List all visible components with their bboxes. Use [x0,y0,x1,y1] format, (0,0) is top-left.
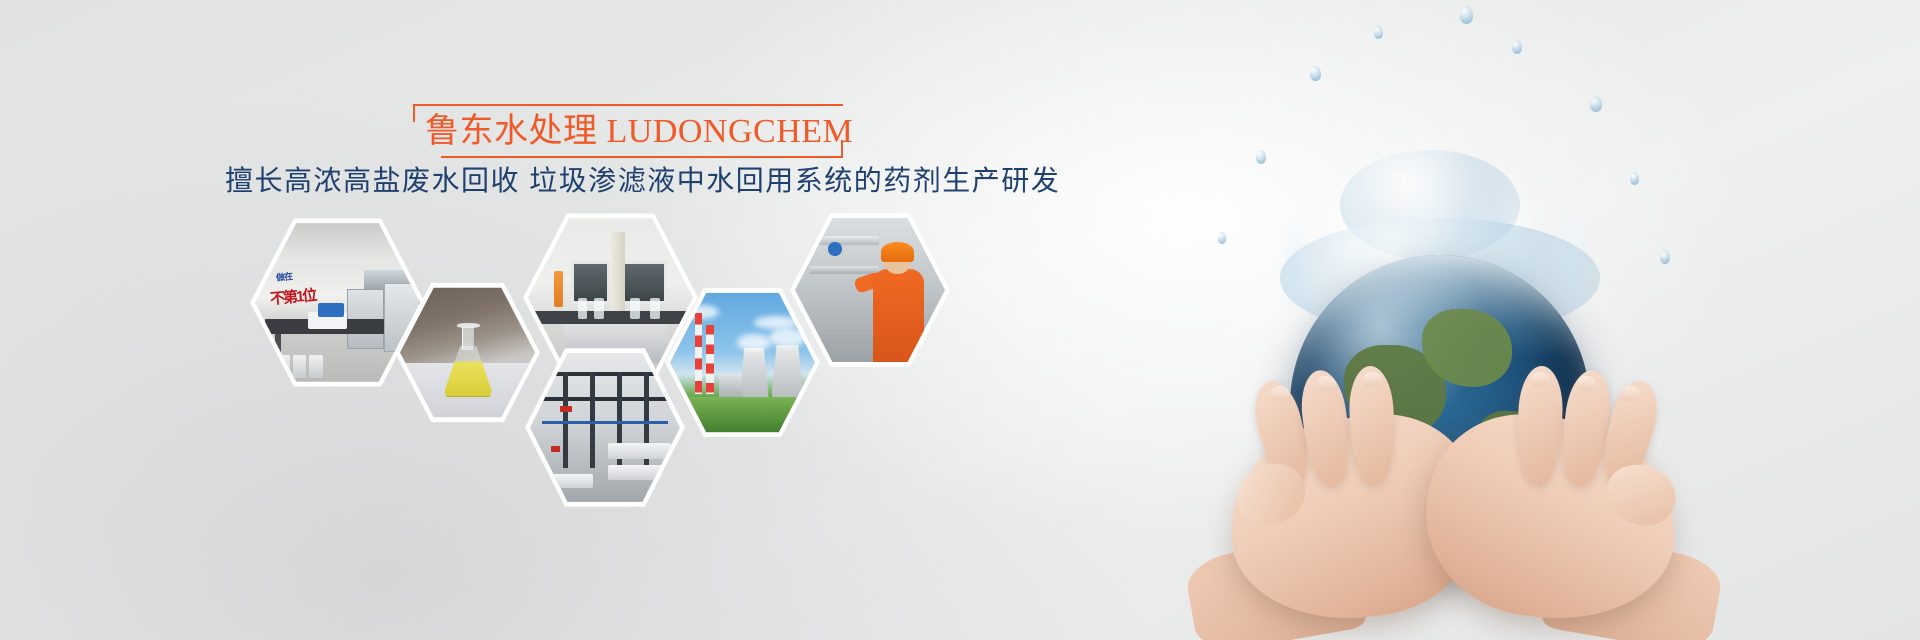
hex-tile-membrane-skid[interactable] [525,345,685,510]
pipe-horizontal-b [539,397,671,402]
hexagon-photo-cluster: 做在 不第1位 [250,215,950,515]
fingernail [1316,376,1336,391]
pipe-vertical-a [563,372,568,468]
fingernail [1620,386,1640,401]
photo-engineer-inspecting-valves [795,215,945,365]
lab2-glassware-d [650,298,660,319]
fingernail [1270,386,1290,401]
wall-slogan-bottom: 不第1位 [269,284,316,309]
bracket-left-vertical [413,104,415,122]
fingernail [1530,372,1550,387]
lab2-window-a [571,261,611,304]
photo-erlenmeyer-flask-yellow-sample [400,285,535,420]
banner-subtitle: 擅长高浓高盐废水回收 垃圾渗滤液中水回用系统的药剂生产研发 [225,160,995,202]
lab2-glassware-c [630,298,640,319]
cloud-b [754,316,798,329]
pipe-vertical-b [590,372,595,468]
chimney-stack-b [706,325,713,395]
valve-handle-b [551,446,560,452]
lab2-window-b [620,261,666,304]
pipe-blue-rail [542,421,668,424]
grass-field [670,397,815,435]
photo-power-plant-cooling-towers [670,290,815,435]
bracket-top-line [413,104,843,106]
lab2-glassware-a [578,298,588,319]
hex-clip [670,290,815,435]
cooling-tower-a [740,348,769,397]
worker-pipe-lower [810,266,879,274]
water-globe-scene [1160,0,1920,640]
plant-building [719,374,742,397]
pipe-horizontal-a [539,372,671,377]
chimney-stack-a [695,313,702,394]
brand-title-block: 鲁东水处理 LUDONGCHEM [413,104,843,158]
hex-tile-water-treatment-laboratory[interactable]: 做在 不第1位 [250,215,425,390]
wall-slogan-top: 做在 [276,269,293,284]
lab-ceiling [255,220,420,263]
hex-clip: 做在 不第1位 [255,220,420,385]
cooling-tower-b [772,345,804,397]
lab-drum-b [293,355,306,378]
worker-hard-hat [881,242,914,262]
worker-valve [828,242,842,256]
steam-plume-b [769,328,807,347]
hex-clip [400,285,535,420]
flask-lip [457,323,480,328]
flask-neck [462,326,474,350]
hex-tile-engineer[interactable] [790,210,950,370]
water-droplet [1374,26,1383,39]
water-droplet [1460,6,1473,24]
worker-overalls [873,269,924,362]
lab-bench-leg [275,334,282,367]
valve-handle-a [560,406,572,412]
photo-water-treatment-laboratory: 做在 不第1位 [255,220,420,385]
hero-banner: 鲁东水处理 LUDONGCHEM 擅长高浓高盐废水回收 垃圾渗滤液中水回用系统的… [0,0,1920,640]
lab-drum-c [309,355,322,378]
fingernail [1362,372,1382,387]
fingernail [1576,376,1596,391]
lab-equipment-blue [318,303,344,318]
lab-drum-a [276,355,289,378]
water-droplet [1310,66,1321,81]
water-droplet [1660,250,1670,264]
brand-title: 鲁东水处理 LUDONGCHEM [425,109,835,155]
water-droplet [1630,172,1639,185]
membrane-vessel-b [608,465,671,481]
bracket-bottom-line [441,156,843,158]
membrane-vessel-a [608,443,671,459]
flask-body [445,346,492,397]
water-droplet [1590,96,1602,112]
water-droplet [1512,40,1522,54]
cupped-hands [1230,370,1680,640]
lab2-bench-top [531,311,689,324]
lab2-glassware-b [594,298,604,319]
water-droplet [1218,232,1226,244]
lab2-orange-stand [554,271,562,307]
membrane-vessel-c [539,474,593,488]
steam-plume-a [737,334,772,351]
hex-clip [795,215,945,365]
photo-membrane-filtration-skid [530,350,680,505]
hex-clip [530,350,680,505]
water-droplet [1256,150,1266,164]
